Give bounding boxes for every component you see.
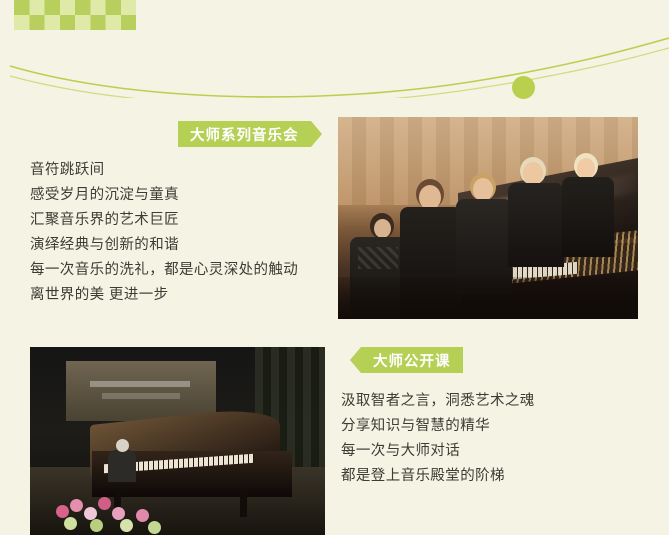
masters-concert-text: 音符跳跃间 感受岁月的沉淀与童真 汇聚音乐界的艺术巨匠 演绎经典与创新的和谐 每… [30, 158, 330, 308]
masterclass-text: 汲取智者之言，洞悉艺术之魂 分享知识与智慧的精华 每一次与大师对话 都是登上音乐… [341, 389, 641, 489]
section-label-masters-concert: 大师系列音乐会 [178, 121, 311, 147]
text-line: 音符跳跃间 [30, 158, 330, 183]
green-curve-line-decor [0, 18, 669, 98]
text-line: 每一次与大师对话 [341, 439, 641, 464]
text-line: 演绎经典与创新的和谐 [30, 233, 330, 258]
poster-page: 大师系列音乐会 [0, 0, 669, 535]
text-line: 汇聚音乐界的艺术巨匠 [30, 208, 330, 233]
section-label-masterclass: 大师公开课 [361, 347, 463, 373]
green-dot-decor [512, 76, 535, 99]
text-line: 都是登上音乐殿堂的阶梯 [341, 464, 641, 489]
text-line: 分享知识与智慧的精华 [341, 414, 641, 439]
masterclass-photo [30, 347, 325, 535]
text-line: 离世界的美 更进一步 [30, 283, 330, 308]
concert-photo [338, 117, 638, 319]
text-line: 每一次音乐的洗礼，都是心灵深处的触动 [30, 258, 330, 283]
section-label-text: 大师系列音乐会 [190, 124, 299, 145]
text-line: 感受岁月的沉淀与童真 [30, 183, 330, 208]
section-label-text: 大师公开课 [373, 350, 451, 371]
text-line: 汲取智者之言，洞悉艺术之魂 [341, 389, 641, 414]
